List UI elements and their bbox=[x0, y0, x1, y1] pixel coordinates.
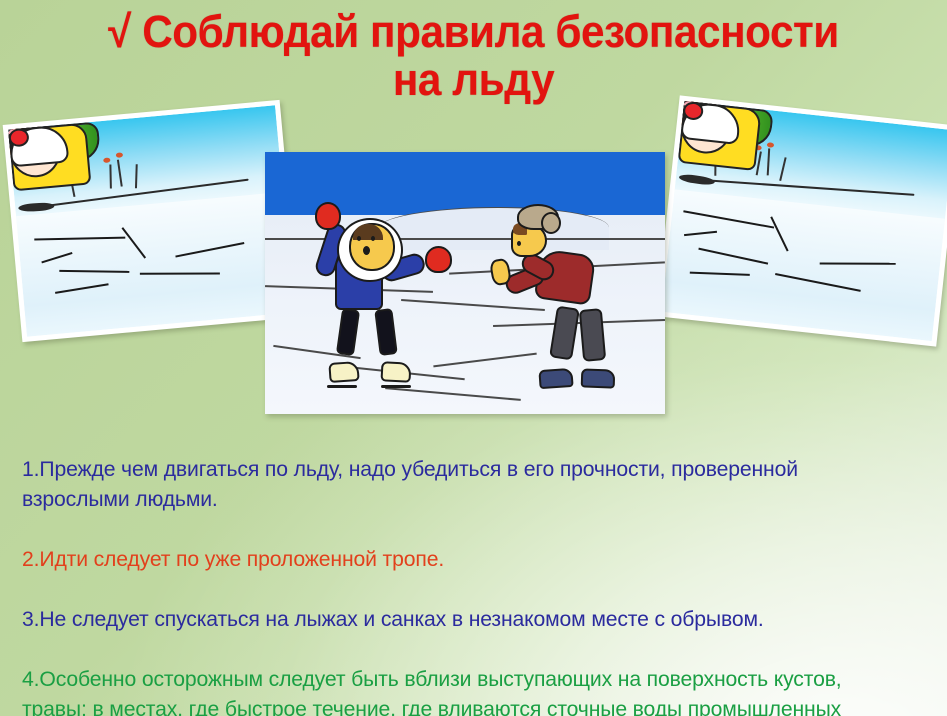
rule-item-1: 1.Прежде чем двигаться по льду, надо убе… bbox=[22, 454, 909, 514]
safety-rules-list: 1.Прежде чем двигаться по льду, надо убе… bbox=[22, 424, 922, 716]
ice-surface bbox=[16, 192, 294, 336]
boy-and-man-art bbox=[265, 152, 665, 414]
slide-canvas: √ Соблюдай правила безопасности на льду bbox=[0, 0, 947, 716]
girl-skating-right-art bbox=[661, 101, 947, 341]
man-right-boot bbox=[581, 369, 616, 389]
boy-right-eye bbox=[371, 236, 375, 241]
man-right-leg bbox=[579, 308, 606, 362]
boy-left-eye bbox=[357, 236, 361, 241]
snow-hill bbox=[377, 207, 609, 250]
boy-right-blade bbox=[381, 385, 411, 388]
image-girl-skating-left bbox=[3, 100, 300, 342]
reed-tip bbox=[767, 142, 774, 148]
boy-left-blade bbox=[327, 385, 357, 388]
image-boy-and-man-on-ice bbox=[265, 152, 665, 414]
rule-item-3: 3.Не следует спускаться на лыжах и санка… bbox=[22, 604, 909, 634]
girl-skating-left-art bbox=[8, 105, 294, 336]
ice-crack bbox=[820, 263, 896, 265]
boy-left-skate-boot bbox=[328, 361, 359, 383]
rule-item-2: 2.Идти следует по уже проложенной тропе. bbox=[22, 544, 909, 574]
image-girl-skating-right bbox=[656, 95, 947, 346]
boy-right-mitten bbox=[425, 246, 452, 273]
rule-item-4: 4.Особенно осторожным следует быть вблиз… bbox=[22, 664, 909, 716]
reed-stalk bbox=[135, 164, 137, 188]
boy-left-mitten bbox=[315, 202, 341, 230]
ice-crack bbox=[140, 273, 220, 275]
page-title: √ Соблюдай правила безопасности на льду bbox=[28, 8, 918, 104]
man-left-boot bbox=[538, 368, 573, 389]
